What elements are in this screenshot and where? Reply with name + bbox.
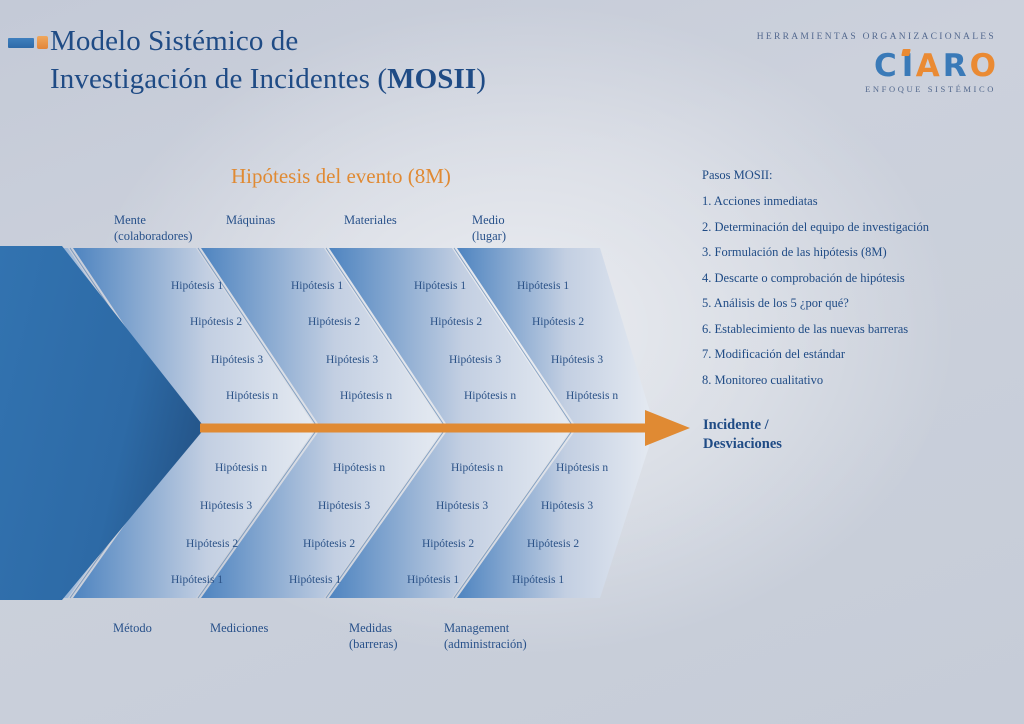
category-label-medio-line1: Medio — [472, 212, 506, 228]
logo-letter-i: I — [900, 51, 913, 81]
hypothesis-label: Hipótesis n — [556, 462, 608, 474]
brand-subtitle: ENFOQUE SISTÉMICO — [696, 84, 996, 94]
hypothesis-label: Hipótesis 1 — [171, 574, 223, 586]
logo-letter-c: C — [874, 51, 897, 81]
hypothesis-label: Hipótesis 2 — [303, 538, 355, 550]
outcome-label-line1: Incidente / — [703, 416, 782, 435]
page-title-line-2-end: ) — [476, 63, 486, 95]
category-label-materiales: Materiales — [344, 212, 397, 228]
accent-bar-icon — [8, 38, 34, 48]
hypothesis-label: Hipótesis n — [333, 462, 385, 474]
category-label-metodo-line1: Método — [113, 620, 152, 636]
hypothesis-label: Hipótesis 3 — [436, 500, 488, 512]
hypothesis-label: Hipótesis 3 — [326, 354, 378, 366]
outcome-label-line2: Desviaciones — [703, 435, 782, 454]
page-title-line-2-plain: Investigación de Incidentes ( — [50, 63, 387, 95]
hypothesis-label: Hipótesis 3 — [318, 500, 370, 512]
hypothesis-label: Hipótesis n — [566, 390, 618, 402]
page-title-acronym: MOSII — [387, 63, 476, 95]
logo-letter-o: O — [970, 51, 996, 81]
page-title-line-1: Modelo Sistémico de — [50, 22, 690, 60]
hypothesis-label: Hipótesis 1 — [171, 280, 223, 292]
hypothesis-label: Hipótesis 3 — [541, 500, 593, 512]
hypothesis-label: Hipótesis 1 — [407, 574, 459, 586]
hypothesis-label: Hipótesis 3 — [200, 500, 252, 512]
step-item-5: 5. Análisis de los 5 ¿por qué? — [702, 296, 1007, 310]
category-label-management-line2: (administración) — [444, 636, 527, 652]
category-label-maquinas-line1: Máquinas — [226, 212, 275, 228]
step-item-1: 1. Acciones inmediatas — [702, 194, 1007, 208]
hypothesis-label: Hipótesis 2 — [308, 316, 360, 328]
hypothesis-label: Hipótesis n — [215, 462, 267, 474]
step-item-4: 4. Descarte o comprobación de hipótesis — [702, 271, 1007, 285]
logo-letter-r: R — [943, 51, 967, 81]
hypothesis-label: Hipótesis 2 — [186, 538, 238, 550]
category-label-medidas-line2: (barreras) — [349, 636, 398, 652]
fishbone-heading: Hipótesis del evento (8M) — [231, 164, 451, 189]
category-label-materiales-line1: Materiales — [344, 212, 397, 228]
page-title: Modelo Sistémico de Investigación de Inc… — [50, 22, 690, 98]
hypothesis-label: Hipótesis 3 — [551, 354, 603, 366]
fishbone-diagram — [0, 238, 700, 608]
title-accent-mark-icon — [8, 36, 48, 50]
category-label-maquinas: Máquinas — [226, 212, 275, 228]
category-label-medidas-line1: Medidas — [349, 620, 398, 636]
category-label-mediciones: Mediciones — [210, 620, 268, 636]
hypothesis-label: Hipótesis n — [464, 390, 516, 402]
step-item-6: 6. Establecimiento de las nuevas barrera… — [702, 322, 1007, 336]
brand-logo: C I A R O — [696, 51, 996, 81]
hypothesis-label: Hipótesis 2 — [527, 538, 579, 550]
hypothesis-label: Hipótesis 2 — [532, 316, 584, 328]
hypothesis-label: Hipótesis n — [226, 390, 278, 402]
hypothesis-label: Hipótesis 3 — [211, 354, 263, 366]
category-label-management: Management (administración) — [444, 620, 527, 652]
hypothesis-label: Hipótesis n — [451, 462, 503, 474]
hypothesis-label: Hipótesis 3 — [449, 354, 501, 366]
hypothesis-label: Hipótesis 2 — [190, 316, 242, 328]
hypothesis-label: Hipótesis 1 — [414, 280, 466, 292]
hypothesis-label: Hipótesis 1 — [289, 574, 341, 586]
hypothesis-label: Hipótesis 1 — [512, 574, 564, 586]
hypothesis-label: Hipótesis 2 — [430, 316, 482, 328]
accent-square-icon — [37, 36, 48, 49]
hypothesis-label: Hipótesis 2 — [422, 538, 474, 550]
category-label-mente-line1: Mente — [114, 212, 192, 228]
category-label-metodo: Método — [113, 620, 152, 636]
category-label-management-line1: Management — [444, 620, 527, 636]
hypothesis-label: Hipótesis n — [340, 390, 392, 402]
steps-title: Pasos MOSII: — [702, 168, 1007, 183]
hypothesis-label: Hipótesis 1 — [517, 280, 569, 292]
steps-panel: Pasos MOSII: 1. Acciones inmediatas 2. D… — [702, 168, 1007, 398]
slide-canvas: Modelo Sistémico de Investigación de Inc… — [0, 0, 1024, 724]
category-label-mediciones-line1: Mediciones — [210, 620, 268, 636]
step-item-7: 7. Modificación del estándar — [702, 347, 1007, 361]
page-title-line-2: Investigación de Incidentes (MOSII) — [50, 60, 690, 98]
brand-tagline: HERRAMIENTAS ORGANIZACIONALES — [696, 32, 996, 42]
logo-i-dot-icon — [901, 49, 910, 56]
step-item-2: 2. Determinación del equipo de investiga… — [702, 220, 1007, 234]
brand-block: HERRAMIENTAS ORGANIZACIONALES C I A R O … — [696, 32, 996, 94]
logo-letter-a: A — [916, 51, 940, 81]
hypothesis-label: Hipótesis 1 — [291, 280, 343, 292]
category-label-medidas: Medidas (barreras) — [349, 620, 398, 652]
step-item-8: 8. Monitoreo cualitativo — [702, 373, 1007, 387]
step-item-3: 3. Formulación de las hipótesis (8M) — [702, 245, 1007, 259]
outcome-label: Incidente / Desviaciones — [703, 416, 782, 454]
